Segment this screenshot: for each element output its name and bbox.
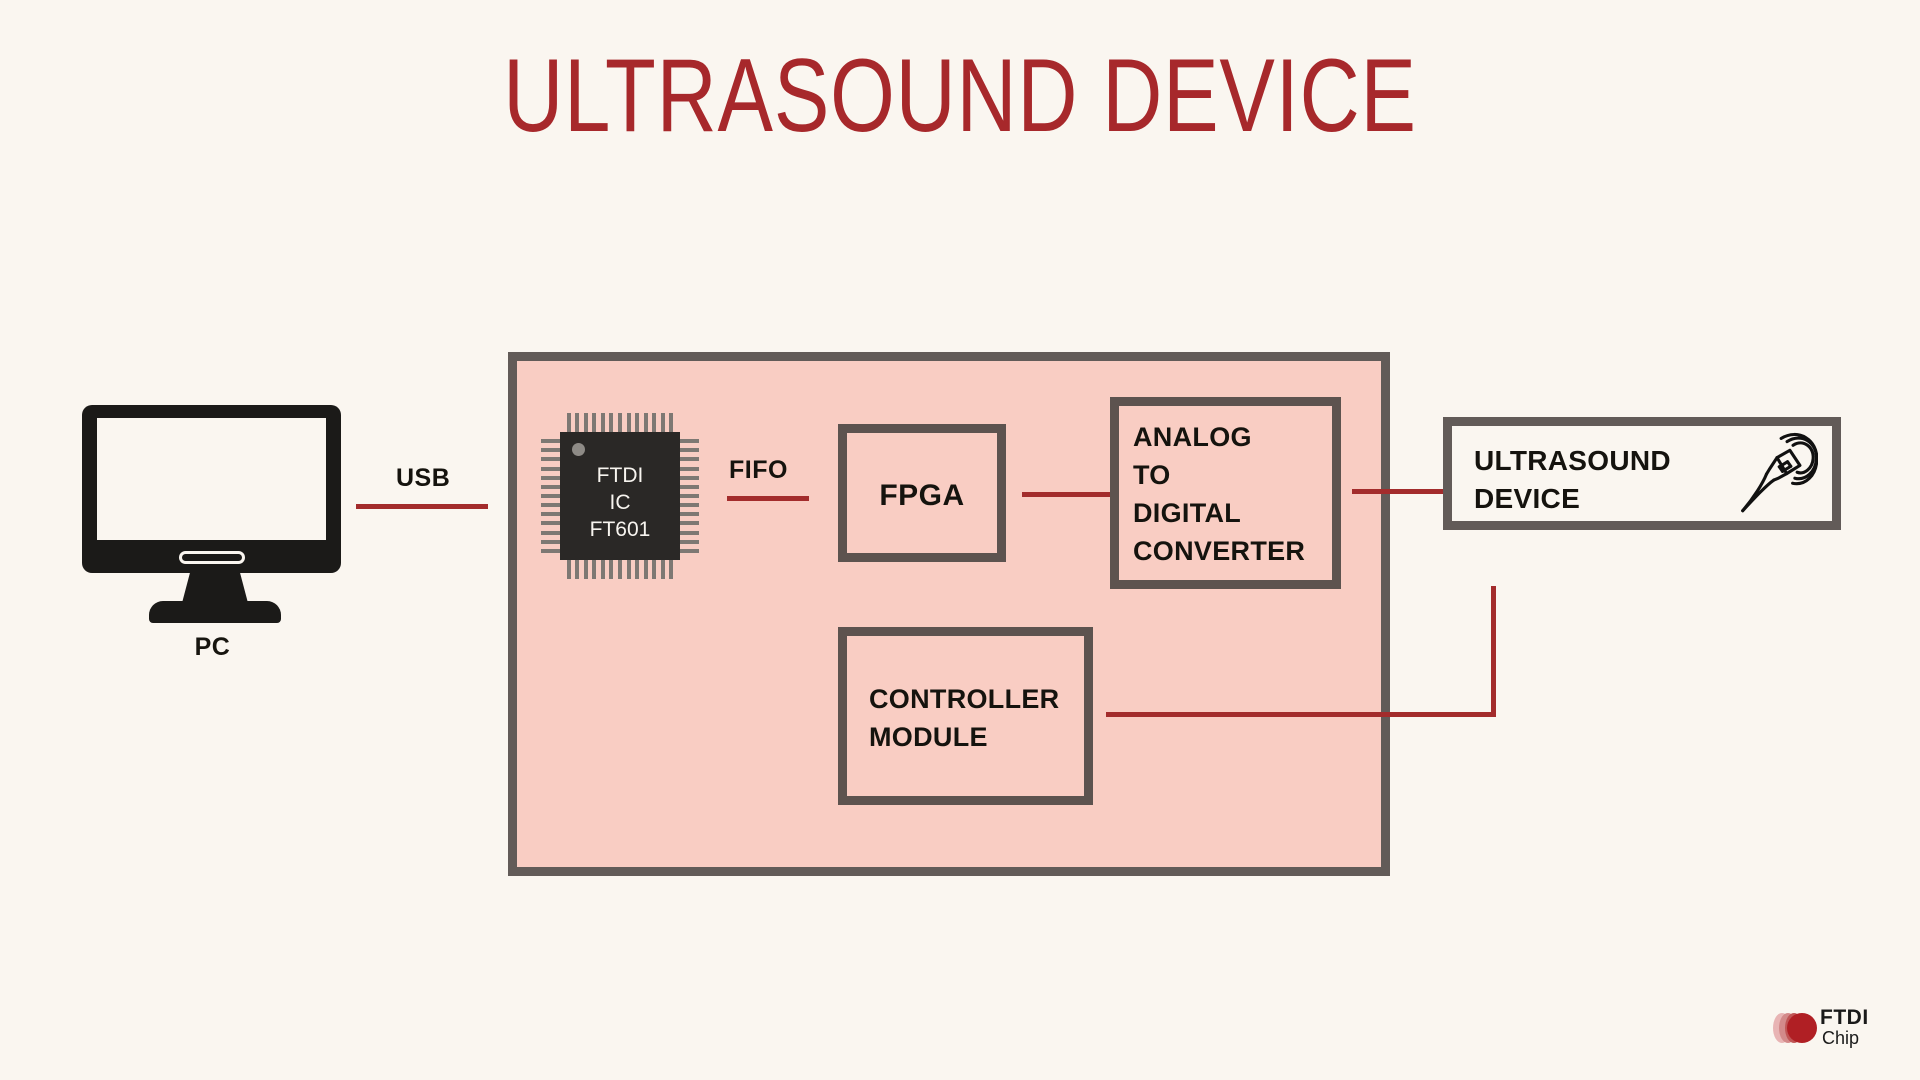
chip-pin: [680, 531, 699, 535]
monitor-neck: [182, 573, 248, 603]
controller-module-label: CONTROLLERMODULE: [869, 680, 1089, 756]
chip-pin: [592, 413, 596, 432]
ftdi-wafer-logo-icon: [1768, 1006, 1820, 1050]
chip-pin: [601, 560, 605, 579]
chip-label-line1: FTDI: [560, 462, 680, 489]
ftdi-logo-subtext: Chip: [1822, 1028, 1859, 1048]
chip-pin: [635, 413, 639, 432]
chip-pin: [669, 560, 673, 579]
ftdi-chip-group: FTDI IC FT601: [540, 412, 700, 580]
ultrasound-device-label: ULTRASOUNDDEVICE: [1474, 442, 1724, 518]
connector-adc-ultrasound: [1352, 489, 1444, 494]
analog-to-digital-converter-box: ANALOGTODIGITALCONVERTER: [1110, 397, 1341, 589]
chip-pin: [592, 560, 596, 579]
chip-pin: [609, 413, 613, 432]
monitor-icon: [82, 405, 341, 573]
connector-controller-horizontal: [1106, 712, 1496, 717]
chip-pin: [680, 540, 699, 544]
chip-pin: [680, 503, 699, 507]
ultrasound-probe-icon: [1726, 432, 1818, 518]
chip-pin: [669, 413, 673, 432]
chip-pin: [661, 560, 665, 579]
chip-pin: [541, 512, 560, 516]
chip-pin: [541, 494, 560, 498]
chip-pin: [644, 413, 648, 432]
diagram-canvas: ULTRASOUND DEVICE PC USB FTDI IC FT601 F…: [0, 0, 1920, 1080]
chip-pin: [680, 457, 699, 461]
chip-pin: [541, 476, 560, 480]
controller-module-box: CONTROLLERMODULE: [838, 627, 1093, 805]
adc-label-line-3: DIGITAL: [1133, 494, 1333, 532]
chip-pin: [644, 560, 648, 579]
chip-pin: [680, 467, 699, 471]
chip-pin: [609, 560, 613, 579]
chip-label-line2: IC: [560, 489, 680, 516]
controller-label-line-1: CONTROLLER: [869, 680, 1089, 718]
chip-pin: [680, 439, 699, 443]
chip-pin: [575, 560, 579, 579]
chip-pin: [541, 439, 560, 443]
connector-label-usb: USB: [396, 464, 450, 493]
ultrasound-device-box: ULTRASOUNDDEVICE: [1443, 417, 1841, 530]
chip-pin: [680, 494, 699, 498]
chip-pin1-dot-icon: [572, 443, 585, 456]
ftdi-logo-wordmark: FTDI: [1820, 1007, 1869, 1028]
connector-usb: [356, 504, 488, 509]
connector-label-fifo: FIFO: [729, 456, 788, 485]
monitor-base: [149, 601, 281, 623]
chip-pin: [652, 413, 656, 432]
chip-pin: [541, 521, 560, 525]
chip-pin: [567, 413, 571, 432]
ftdi-ic-icon: FTDI IC FT601: [560, 432, 680, 560]
chip-pin: [541, 540, 560, 544]
adc-label-line-4: CONVERTER: [1133, 532, 1333, 570]
pc-label: PC: [80, 633, 345, 662]
chip-pin: [627, 413, 631, 432]
chip-pin: [541, 457, 560, 461]
chip-pin: [541, 549, 560, 553]
chip-pin: [635, 560, 639, 579]
monitor-stand-pill: [179, 551, 245, 564]
controller-label-line-2: MODULE: [869, 718, 1089, 756]
connector-fifo: [727, 496, 809, 501]
chip-pin: [584, 560, 588, 579]
connector-fpga-adc: [1022, 492, 1110, 497]
chip-pin: [541, 467, 560, 471]
chip-pin: [567, 560, 571, 579]
us-label-line-1: ULTRASOUND: [1474, 442, 1724, 480]
chip-pin: [601, 413, 605, 432]
chip-pin: [661, 413, 665, 432]
ftdi-chip-logo: FTDI Chip: [1768, 1006, 1888, 1054]
monitor-screen: [97, 418, 326, 540]
fpga-label: FPGA: [847, 479, 997, 513]
chip-pin: [541, 531, 560, 535]
adc-label-line-1: ANALOG: [1133, 418, 1333, 456]
chip-pin: [541, 448, 560, 452]
pc-group: PC: [80, 405, 350, 665]
fpga-box: FPGA: [838, 424, 1006, 562]
chip-pin: [652, 560, 656, 579]
chip-pin: [584, 413, 588, 432]
chip-pin: [541, 503, 560, 507]
chip-pin: [680, 549, 699, 553]
chip-pin: [680, 521, 699, 525]
chip-pin: [541, 485, 560, 489]
adc-label: ANALOGTODIGITALCONVERTER: [1133, 418, 1333, 570]
chip-label-line3: FT601: [560, 516, 680, 543]
chip-pin: [680, 512, 699, 516]
page-title: ULTRASOUND DEVICE: [192, 44, 1728, 148]
chip-pin: [680, 485, 699, 489]
chip-pin: [680, 476, 699, 480]
adc-label-line-2: TO: [1133, 456, 1333, 494]
chip-label: FTDI IC FT601: [560, 462, 680, 543]
chip-pin: [627, 560, 631, 579]
connector-controller-vertical: [1491, 586, 1496, 717]
chip-pin: [575, 413, 579, 432]
chip-pin: [618, 560, 622, 579]
us-label-line-2: DEVICE: [1474, 480, 1724, 518]
chip-pin: [618, 413, 622, 432]
chip-pin: [680, 448, 699, 452]
